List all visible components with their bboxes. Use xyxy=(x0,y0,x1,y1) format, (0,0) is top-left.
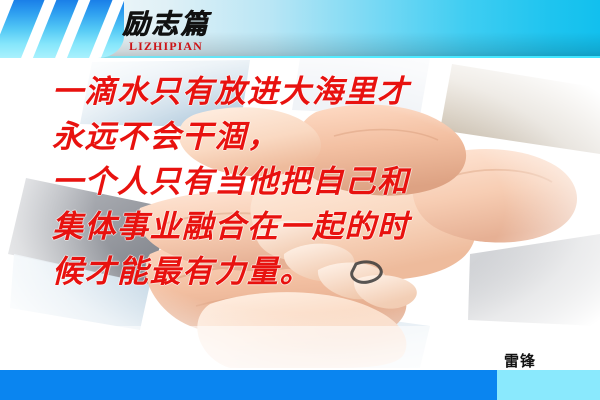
quote-line-5: 候才能最有力量。 xyxy=(52,250,552,295)
footer-bar-main xyxy=(0,370,497,400)
quote-line-3: 一个人只有当他把自己和 xyxy=(52,160,552,205)
brand-title-pinyin: LIZHIPIAN xyxy=(106,40,226,52)
quote-block: 一滴水只有放进大海里才 永远不会干涸， 一个人只有当他把自己和 集体事业融合在一… xyxy=(52,70,552,295)
poster-canvas: 励志篇 LIZHIPIAN xyxy=(0,0,600,400)
quote-attribution: 雷锋 xyxy=(504,350,536,371)
quote-line-1: 一滴水只有放进大海里才 xyxy=(52,70,552,115)
quote-line-2: 永远不会干涸， xyxy=(52,115,552,160)
footer-bar-accent xyxy=(497,370,600,400)
brand-title-cn: 励志篇 xyxy=(106,11,226,38)
footer-bar xyxy=(0,370,600,400)
quote-line-4: 集体事业融合在一起的时 xyxy=(52,205,552,250)
brand-logo: 励志篇 LIZHIPIAN xyxy=(106,11,226,52)
